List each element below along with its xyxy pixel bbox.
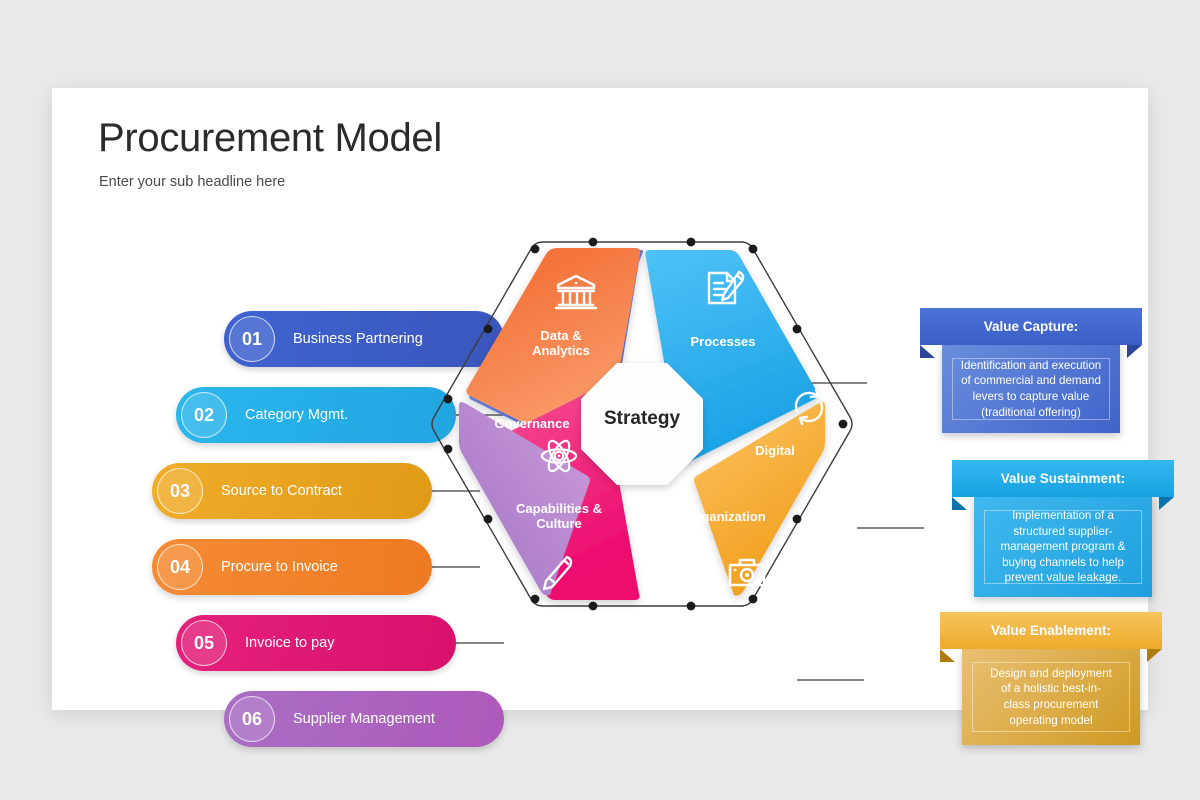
step-number: 03 bbox=[157, 468, 203, 514]
value-card-body-box: Identification and execution of commerci… bbox=[942, 345, 1120, 433]
step-number: 05 bbox=[181, 620, 227, 666]
step-label: Business Partnering bbox=[293, 331, 423, 347]
step-label: Category Mgmt. bbox=[245, 407, 348, 423]
value-card-capture[interactable]: Value Capture: Identification and execut… bbox=[920, 308, 1142, 433]
step-pill-02[interactable]: 02 Category Mgmt. bbox=[176, 387, 456, 443]
value-card-body: Identification and execution of commerci… bbox=[952, 358, 1110, 420]
value-card-title: Value Capture: bbox=[920, 308, 1142, 345]
value-card-title: Value Enablement: bbox=[940, 612, 1162, 649]
value-card-body-box: Design and deployment of a holistic best… bbox=[962, 649, 1140, 745]
step-pill-04[interactable]: 04 Procure to Invoice bbox=[152, 539, 432, 595]
hexagon-wheel: Data & Analytics Processes Digital Organ… bbox=[427, 224, 857, 644]
value-card-body-box: Implementation of a structured supplier-… bbox=[974, 497, 1152, 597]
step-number: 04 bbox=[157, 544, 203, 590]
step-pill-06[interactable]: 06 Supplier Management bbox=[224, 691, 504, 747]
value-card-body: Design and deployment of a holistic best… bbox=[972, 662, 1130, 732]
value-card-body: Implementation of a structured supplier-… bbox=[984, 510, 1142, 584]
value-card-enablement[interactable]: Value Enablement: Design and deployment … bbox=[940, 612, 1162, 745]
center-label: Strategy bbox=[427, 408, 857, 430]
step-number: 01 bbox=[229, 316, 275, 362]
step-label: Source to Contract bbox=[221, 483, 342, 499]
step-number: 06 bbox=[229, 696, 275, 742]
value-card-title: Value Sustainment: bbox=[952, 460, 1174, 497]
step-label: Invoice to pay bbox=[245, 635, 334, 651]
step-pill-03[interactable]: 03 Source to Contract bbox=[152, 463, 432, 519]
step-label: Supplier Management bbox=[293, 711, 435, 727]
slide-canvas: Procurement Model Enter your sub headlin… bbox=[52, 88, 1148, 710]
step-number: 02 bbox=[181, 392, 227, 438]
step-label: Procure to Invoice bbox=[221, 559, 338, 575]
step-pill-05[interactable]: 05 Invoice to pay bbox=[176, 615, 456, 671]
value-card-sustainment[interactable]: Value Sustainment: Implementation of a s… bbox=[952, 460, 1174, 597]
